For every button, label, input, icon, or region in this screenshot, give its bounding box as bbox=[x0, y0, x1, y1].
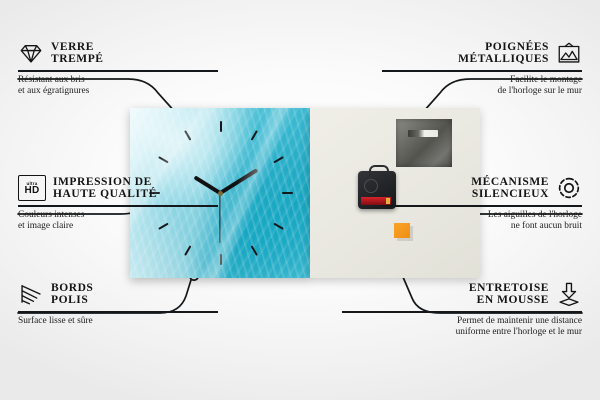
divider bbox=[382, 70, 582, 72]
feature-subtitle: Surface lisse et sûre bbox=[18, 316, 218, 327]
foam-spacer-icon bbox=[556, 281, 582, 307]
clock-tick bbox=[251, 245, 258, 256]
feature-subtitle: et image claire bbox=[18, 221, 218, 232]
feature-title: POIGNÉES MÉTALLIQUES bbox=[458, 41, 549, 66]
feature-mecanisme-silencieux: MÉCANISME SILENCIEUX Les aiguilles de l'… bbox=[382, 175, 582, 232]
feature-subtitle: ne font aucun bruit bbox=[382, 221, 582, 232]
hanger-plate bbox=[396, 119, 452, 167]
feature-title: ENTRETOISE EN MOUSSE bbox=[469, 282, 549, 307]
clock-tick bbox=[220, 121, 222, 132]
feature-title: BORDS POLIS bbox=[51, 282, 93, 307]
feature-heading: ultra HD IMPRESSION DE HAUTE QUALITÉ bbox=[18, 175, 218, 201]
feature-heading: ENTRETOISE EN MOUSSE bbox=[342, 281, 582, 307]
feature-entretoise-en-mousse: ENTRETOISE EN MOUSSE Permet de maintenir… bbox=[342, 281, 582, 338]
feature-impression-haute-qualite: ultra HD IMPRESSION DE HAUTE QUALITÉ Cou… bbox=[18, 175, 218, 232]
clock-tick bbox=[282, 192, 293, 194]
infographic-canvas: VERRE TREMPÉ Résistant aux bris et aux é… bbox=[0, 0, 600, 400]
clock-minute-hand bbox=[219, 168, 258, 194]
divider bbox=[18, 311, 218, 313]
hanger-slot bbox=[408, 130, 438, 137]
feature-heading: BORDS POLIS bbox=[18, 281, 218, 307]
clock-tick bbox=[184, 130, 191, 141]
feature-bords-polis: BORDS POLIS Surface lisse et sûre bbox=[18, 281, 218, 327]
feature-subtitle: et aux égratignures bbox=[18, 86, 218, 97]
clock-tick bbox=[184, 245, 191, 256]
divider bbox=[18, 70, 218, 72]
feature-poignees-metalliques: POIGNÉES MÉTALLIQUES Facilite le montage… bbox=[382, 40, 582, 97]
feature-heading: VERRE TREMPÉ bbox=[18, 40, 218, 66]
divider bbox=[18, 205, 218, 207]
feature-title: VERRE TREMPÉ bbox=[51, 41, 104, 66]
feature-subtitle: Facilite le montage bbox=[382, 75, 582, 86]
picture-frame-icon bbox=[556, 40, 582, 66]
feature-heading: MÉCANISME SILENCIEUX bbox=[382, 175, 582, 201]
mechanism-dial bbox=[364, 179, 378, 193]
feature-subtitle: uniforme entre l'horloge et le mur bbox=[342, 327, 582, 338]
polished-edges-icon bbox=[18, 281, 44, 307]
feature-subtitle: de l'horloge sur le mur bbox=[382, 86, 582, 97]
clock-tick bbox=[158, 156, 169, 163]
clock-tick bbox=[251, 130, 258, 141]
feature-subtitle: Les aiguilles de l'horloge bbox=[382, 210, 582, 221]
clock-tick bbox=[273, 156, 284, 163]
clock-center-hub bbox=[218, 191, 223, 196]
feature-title: IMPRESSION DE HAUTE QUALITÉ bbox=[53, 176, 157, 201]
feature-subtitle: Permet de maintenir une distance bbox=[342, 316, 582, 327]
clock-tick bbox=[220, 254, 222, 265]
feature-heading: POIGNÉES MÉTALLIQUES bbox=[382, 40, 582, 66]
clock-tick bbox=[273, 223, 284, 230]
feature-verre-trempe: VERRE TREMPÉ Résistant aux bris et aux é… bbox=[18, 40, 218, 97]
clock-second-hand bbox=[219, 193, 220, 243]
divider bbox=[342, 311, 582, 313]
ultra-hd-icon: ultra HD bbox=[18, 175, 46, 201]
feature-subtitle: Couleurs intenses bbox=[18, 210, 218, 221]
gear-icon bbox=[556, 175, 582, 201]
feature-subtitle: Résistant aux bris bbox=[18, 75, 218, 86]
divider bbox=[382, 205, 582, 207]
diamond-icon bbox=[18, 40, 44, 66]
feature-title: MÉCANISME SILENCIEUX bbox=[471, 176, 549, 201]
